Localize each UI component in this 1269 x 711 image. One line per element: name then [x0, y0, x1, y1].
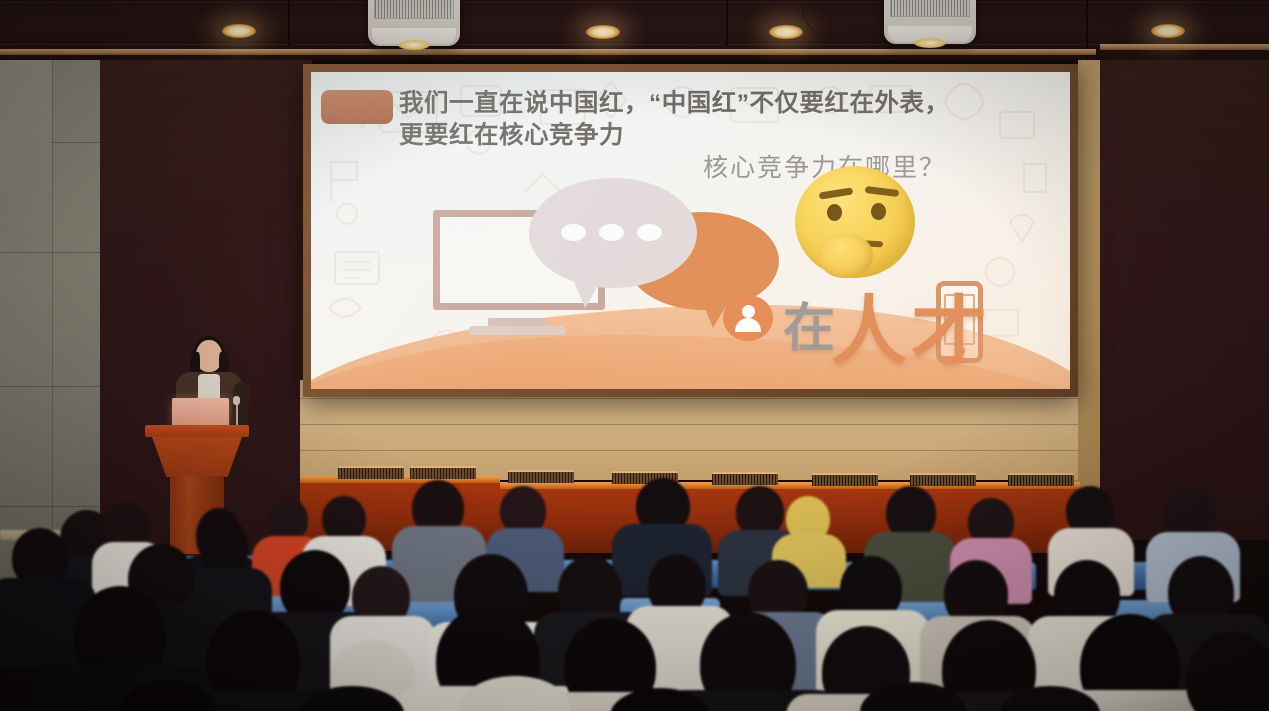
presenter-laptop	[172, 398, 229, 427]
audience: SOURC	[0, 460, 1269, 711]
slide-title-accent-chip	[321, 90, 393, 124]
emoji-eye-right-icon	[871, 203, 886, 220]
person-avatar-icon	[723, 295, 773, 341]
screen-right-jamb	[1078, 60, 1100, 480]
ceiling-trim-left	[0, 49, 1096, 55]
spotlight-3-icon	[769, 25, 803, 39]
ac-unit-left	[368, 0, 460, 46]
projection-screen-frame: 我们一直在说中国红，“中国红”不仅要红在外表， 更要红在核心竞争力 核心竞争力在…	[303, 64, 1078, 397]
microphone-head-icon	[233, 396, 240, 405]
left-tile-wall-upper	[0, 56, 52, 206]
emoji-eye-left-icon	[827, 204, 842, 221]
slide-title: 我们一直在说中国红，“中国红”不仅要红在外表， 更要红在核心竞争力	[399, 88, 1070, 153]
ac-unit-right	[884, 0, 976, 44]
lecture-hall-scene: 我们一直在说中国红，“中国红”不仅要红在外表， 更要红在核心竞争力 核心竞争力在…	[0, 0, 1269, 711]
ceiling-trim-right	[1100, 44, 1269, 50]
speech-bubble-gray-tail-icon	[569, 270, 607, 308]
spotlight-1-icon	[222, 24, 256, 38]
slide-title-line-1: 我们一直在说中国红，“中国红”不仅要红在外表，	[399, 88, 1070, 120]
projection-screen: 我们一直在说中国红，“中国红”不仅要红在外表， 更要红在核心竞争力 核心竞争力在…	[311, 72, 1070, 389]
slide-answer-highlight: 人才	[831, 270, 991, 380]
bubble-dot-1-icon	[561, 224, 586, 241]
podium-top	[145, 425, 249, 437]
monitor-base-icon	[469, 326, 565, 335]
monitor-neck-icon	[488, 318, 546, 326]
spotlight-2-icon	[586, 25, 620, 39]
bubble-dot-2-icon	[599, 224, 624, 241]
spotlight-4-icon	[1151, 24, 1185, 38]
slide-answer-prefix: 在	[783, 286, 835, 361]
bubble-dot-3-icon	[637, 224, 662, 241]
